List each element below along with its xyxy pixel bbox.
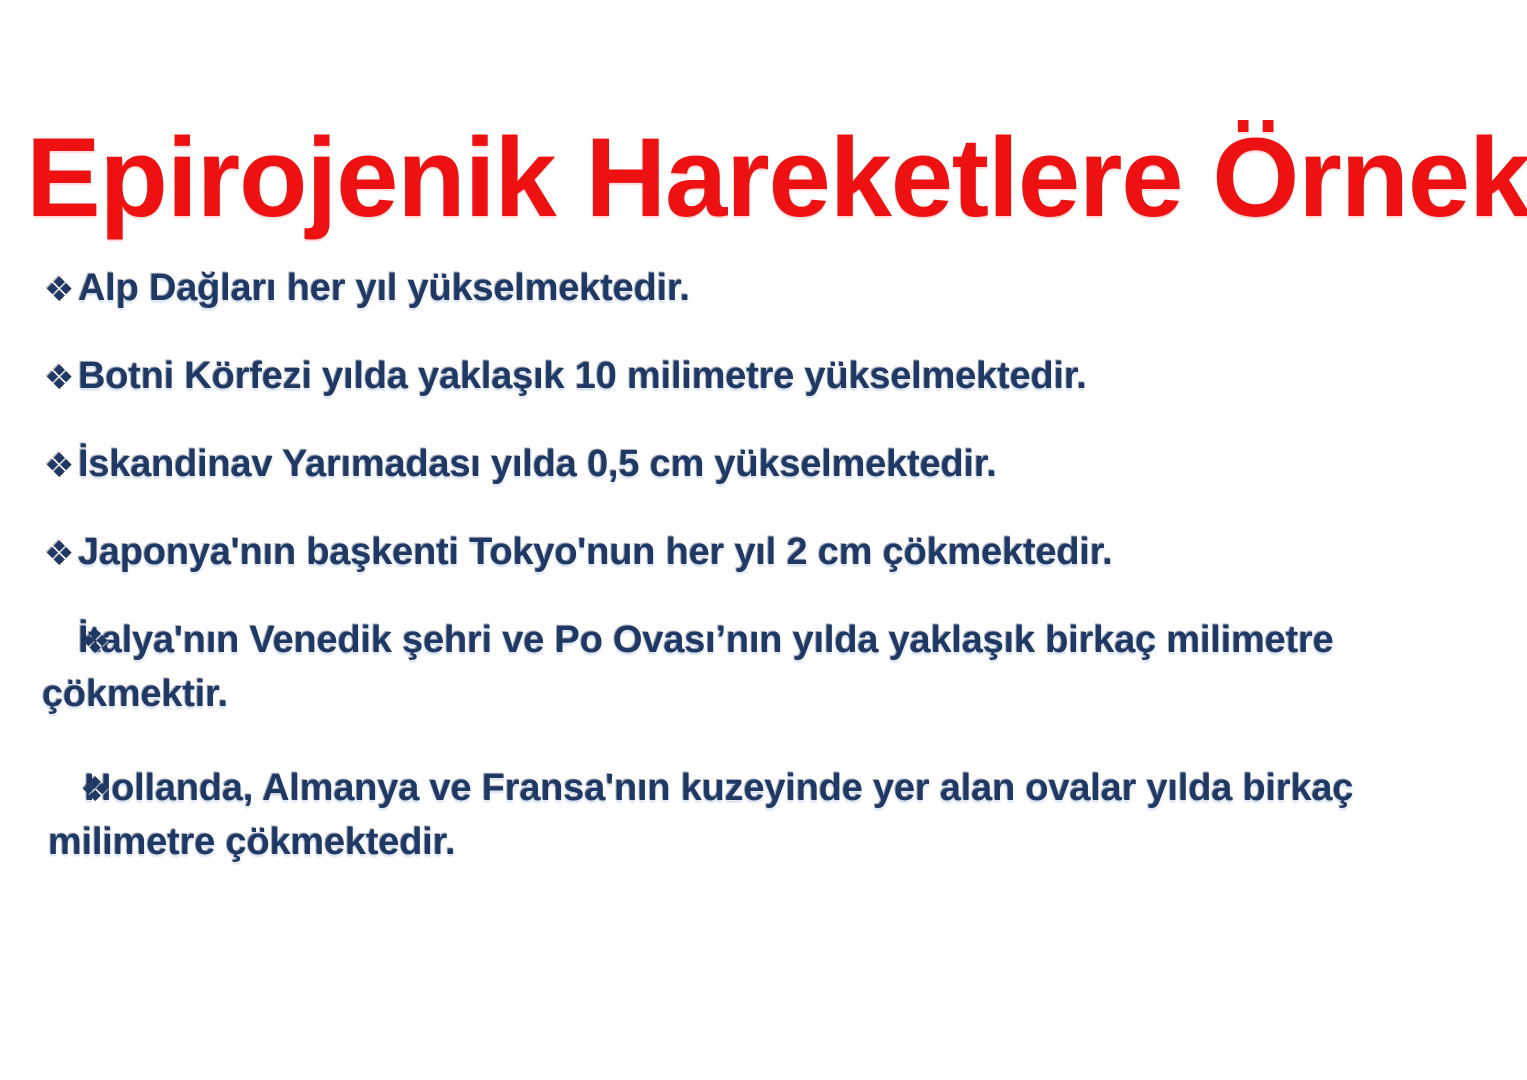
- list-item-text: Alp Dağları her yıl yükselmektedir.: [78, 262, 1497, 316]
- list-item-text: Japonya'nın başkenti Tokyo'nun her yıl 2…: [78, 526, 1497, 580]
- diamond-bullet-icon: ❖: [44, 442, 88, 490]
- list-item: ❖ İskandinav Yarımadası yılda 0,5 cm yük…: [0, 438, 1527, 492]
- diamond-bullet-icon: ❖: [44, 266, 88, 314]
- list-item: ❖ Alp Dağları her yıl yükselmektedir.: [0, 262, 1527, 316]
- list-item-text: Hollanda, Almanya ve Fransa'nın kuzeyind…: [48, 762, 1497, 870]
- diamond-bullet-icon: ❖: [44, 618, 88, 666]
- list-item: ❖ Japonya'nın başkenti Tokyo'nun her yıl…: [0, 526, 1527, 580]
- list-item-text: İtalya'nın Venedik şehri ve Po Ovası’nın…: [42, 614, 1497, 722]
- list-item-text: Botni Körfezi yılda yaklaşık 10 milimetr…: [78, 350, 1497, 404]
- slide-canvas: Epirojenik Hareketlere Örnekler ❖ Alp Da…: [0, 0, 1527, 1080]
- diamond-bullet-icon: ❖: [44, 530, 88, 578]
- list-item: ❖ Hollanda, Almanya ve Fransa'nın kuzeyi…: [0, 762, 1527, 870]
- list-item: ❖ Botni Körfezi yılda yaklaşık 10 milime…: [0, 350, 1527, 404]
- diamond-bullet-icon: ❖: [44, 354, 88, 402]
- diamond-bullet-icon: ❖: [44, 766, 88, 814]
- list-item-text: İskandinav Yarımadası yılda 0,5 cm yükse…: [78, 438, 1497, 492]
- bullet-list: ❖ Alp Dağları her yıl yükselmektedir. ❖ …: [0, 262, 1527, 870]
- list-item: ❖ İtalya'nın Venedik şehri ve Po Ovası’n…: [0, 614, 1527, 722]
- page-title: Epirojenik Hareketlere Örnekler: [26, 118, 1516, 239]
